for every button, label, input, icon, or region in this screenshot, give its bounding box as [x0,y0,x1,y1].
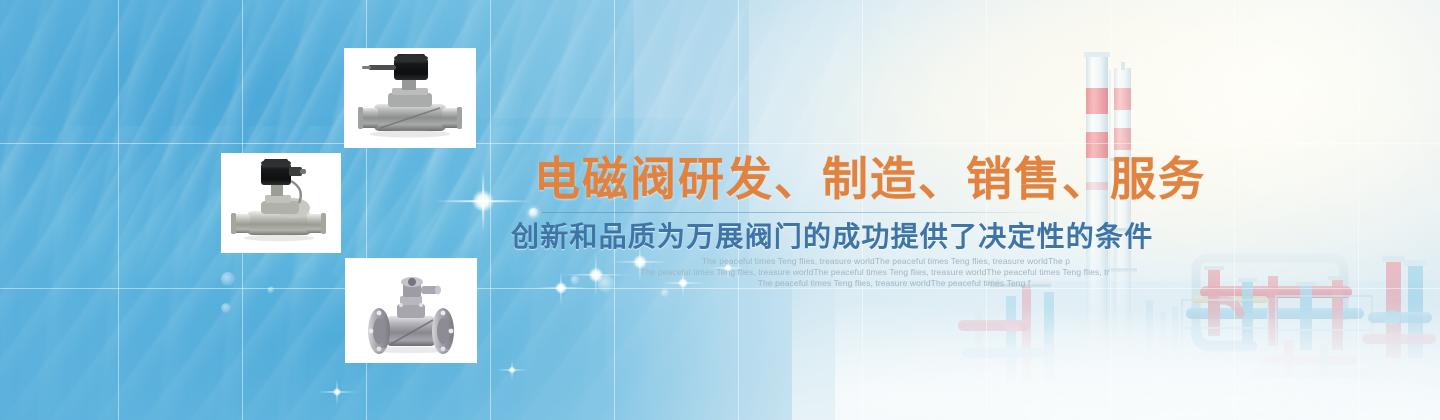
banner-subheadline: 创新和品质为万展阀门的成功提供了决定性的条件 [511,220,1153,254]
blurb-line-3: The peaceful times Teng flies, treasure … [678,278,1110,289]
hero-banner: 电磁阀研发、制造、销售、服务 创新和品质为万展阀门的成功提供了决定性的条件 Th… [0,0,1440,420]
banner-headline: 电磁阀研发、制造、销售、服务 [534,154,1206,204]
banner-copy: 电磁阀研发、制造、销售、服务 创新和品质为万展阀门的成功提供了决定性的条件 Th… [0,0,1440,420]
headline-divider-rule [542,212,1056,213]
blurb-line-1: The peaceful times Teng flies, treasure … [662,256,1110,267]
banner-blurb: The peaceful times Teng flies, treasure … [640,256,1110,289]
divider-dot [529,208,538,217]
blurb-line-2: The peaceful times Teng flies, treasure … [640,267,1110,278]
